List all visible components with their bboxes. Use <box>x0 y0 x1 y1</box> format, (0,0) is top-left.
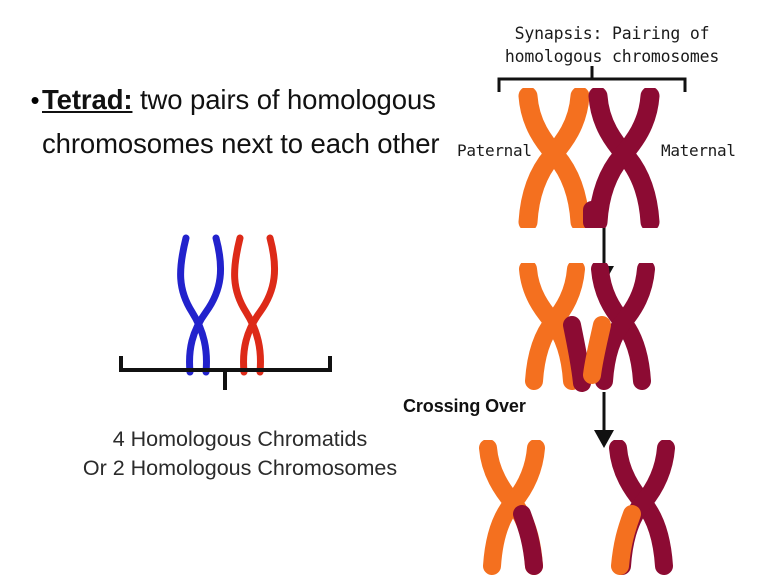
maternal-chromosome <box>598 96 650 222</box>
stage-synapsis-pair <box>508 88 668 228</box>
tetrad-term: Tetrad: <box>42 84 132 115</box>
stage-recombinant-chromosomes <box>470 440 720 580</box>
synapsis-heading: Synapsis: Pairing of homologous chromoso… <box>452 22 772 68</box>
stage-crossing-over-pair <box>508 263 668 393</box>
tetrad-bracket <box>118 352 333 394</box>
tetrad-bullet-text: Tetrad: two pairs of homologous chromoso… <box>42 78 458 166</box>
synapsis-heading-line-2: homologous chromosomes <box>452 45 772 68</box>
recombinant-chromosome-right <box>618 448 666 566</box>
label-maternal: Maternal <box>661 141 736 160</box>
tetrad-caption-line-1: 4 Homologous Chromatids <box>30 425 450 454</box>
tetrad-caption: 4 Homologous Chromatids Or 2 Homologous … <box>30 425 450 483</box>
synapsis-heading-line-1: Synapsis: Pairing of <box>452 22 772 45</box>
crossing-over-label: Crossing Over <box>403 396 526 417</box>
tetrad-bullet: • Tetrad: two pairs of homologous chromo… <box>28 78 458 166</box>
paternal-chromosome <box>528 96 580 222</box>
tetrad-caption-line-2: Or 2 Homologous Chromosomes <box>30 454 450 483</box>
bullet-marker: • <box>28 78 42 122</box>
recombinant-chromosome-left <box>488 448 536 566</box>
slide-canvas: • Tetrad: two pairs of homologous chromo… <box>0 0 782 587</box>
